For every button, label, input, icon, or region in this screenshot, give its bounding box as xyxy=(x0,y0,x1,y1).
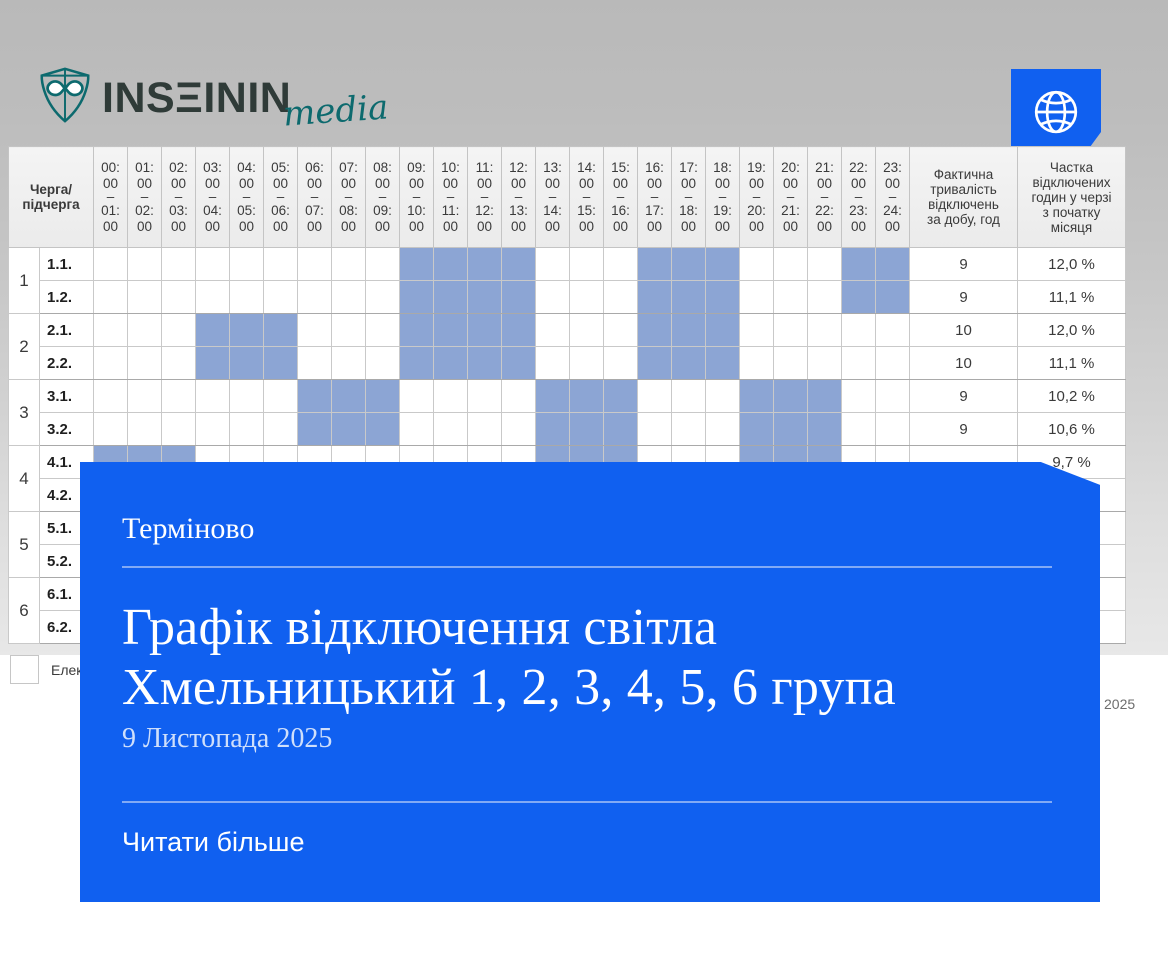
outage-cell-on xyxy=(706,248,740,281)
outage-cell-off xyxy=(774,248,808,281)
hour-header-16: 16: 00 – 17: 00 xyxy=(638,147,672,248)
outage-cell-on xyxy=(672,281,706,314)
hour-header-6: 06: 00 – 07: 00 xyxy=(298,147,332,248)
duration-value: 9 xyxy=(910,380,1018,413)
outage-cell-on xyxy=(672,248,706,281)
card-headline-line2: Хмельницький 1, 2, 3, 4, 5, 6 група xyxy=(122,658,1048,718)
outage-cell-off xyxy=(740,314,774,347)
table-row: 33.1.910,2 % xyxy=(9,380,1126,413)
outage-cell-off xyxy=(332,248,366,281)
footnote-year: 2025 xyxy=(1104,696,1135,712)
outage-cell-off xyxy=(196,281,230,314)
outage-cell-off xyxy=(808,347,842,380)
outage-cell-off xyxy=(570,281,604,314)
subgroup-label: 3.1. xyxy=(40,380,94,413)
hour-header-7: 07: 00 – 08: 00 xyxy=(332,147,366,248)
subgroup-label: 1.2. xyxy=(40,281,94,314)
outage-cell-off xyxy=(128,380,162,413)
share-value: 12,0 % xyxy=(1018,248,1126,281)
outage-cell-on xyxy=(638,248,672,281)
outage-cell-off xyxy=(604,314,638,347)
card-headline: Графік відключення світла Хмельницький 1… xyxy=(122,598,1048,718)
outage-cell-on xyxy=(400,248,434,281)
outage-cell-off xyxy=(230,248,264,281)
header-row: Черга/ підчерга 00: 00 – 01: 00 01: 00 –… xyxy=(9,147,1126,248)
card-date: 9 Листопада 2025 xyxy=(122,724,1048,755)
outage-cell-on xyxy=(400,314,434,347)
outage-cell-off xyxy=(366,281,400,314)
hour-to-h: 01: xyxy=(94,203,127,219)
outage-cell-on xyxy=(366,380,400,413)
outage-cell-off xyxy=(672,413,706,446)
outage-cell-off xyxy=(808,314,842,347)
outage-cell-off xyxy=(570,347,604,380)
outage-cell-on xyxy=(842,281,876,314)
outage-cell-on xyxy=(434,281,468,314)
outage-cell-off xyxy=(468,380,502,413)
outage-cell-off xyxy=(264,248,298,281)
hour-header-5: 05: 00 – 06: 00 xyxy=(264,147,298,248)
card-divider-top xyxy=(122,566,1052,568)
outage-cell-off xyxy=(332,347,366,380)
card-kicker: Терміново xyxy=(122,514,1048,544)
outage-cell-off xyxy=(434,380,468,413)
outage-cell-off xyxy=(128,314,162,347)
outage-cell-off xyxy=(774,314,808,347)
hour-header-20: 20: 00 – 21: 00 xyxy=(774,147,808,248)
outage-cell-off xyxy=(604,248,638,281)
outage-cell-on xyxy=(808,380,842,413)
outage-cell-on xyxy=(672,347,706,380)
subgroup-label: 1.1. xyxy=(40,248,94,281)
hour-header-14: 14: 00 – 15: 00 xyxy=(570,147,604,248)
subgroup-label: 2.2. xyxy=(40,347,94,380)
outage-cell-off xyxy=(842,314,876,347)
outage-cell-off xyxy=(94,281,128,314)
table-row: 3.2.910,6 % xyxy=(9,413,1126,446)
share-value: 12,0 % xyxy=(1018,314,1126,347)
outage-cell-on xyxy=(264,314,298,347)
outage-cell-on xyxy=(230,314,264,347)
hour-header-23: 23: 00 – 24: 00 xyxy=(876,147,910,248)
group-number: 1 xyxy=(9,248,40,314)
corner-header-line2: підчерга xyxy=(22,197,79,212)
outage-cell-on xyxy=(502,347,536,380)
outage-cell-off xyxy=(128,281,162,314)
outage-cell-off xyxy=(332,281,366,314)
duration-value: 9 xyxy=(910,413,1018,446)
outage-cell-off xyxy=(230,281,264,314)
share-value: 11,1 % xyxy=(1018,281,1126,314)
hour-header-3: 03: 00 – 04: 00 xyxy=(196,147,230,248)
outage-cell-off xyxy=(570,314,604,347)
outage-cell-off xyxy=(774,281,808,314)
outage-cell-on xyxy=(332,380,366,413)
outage-cell-on xyxy=(502,248,536,281)
outage-cell-off xyxy=(740,347,774,380)
outage-cell-on xyxy=(638,281,672,314)
outage-cell-off xyxy=(842,347,876,380)
corner-header: Черга/ підчерга xyxy=(9,147,94,248)
group-number: 4 xyxy=(9,446,40,512)
hour-header-22: 22: 00 – 23: 00 xyxy=(842,147,876,248)
outage-cell-off xyxy=(502,413,536,446)
outage-cell-on xyxy=(842,248,876,281)
outage-cell-off xyxy=(264,281,298,314)
outage-cell-on xyxy=(672,314,706,347)
outage-cell-off xyxy=(162,380,196,413)
outage-cell-on xyxy=(468,314,502,347)
outage-cell-off xyxy=(94,347,128,380)
outage-cell-off xyxy=(808,281,842,314)
outage-cell-on xyxy=(876,281,910,314)
outage-cell-on xyxy=(434,347,468,380)
outage-cell-off xyxy=(842,380,876,413)
outage-cell-off xyxy=(230,380,264,413)
hour-header-8: 08: 00 – 09: 00 xyxy=(366,147,400,248)
hour-header-0: 00: 00 – 01: 00 xyxy=(94,147,128,248)
subgroup-label: 2.1. xyxy=(40,314,94,347)
outage-cell-on xyxy=(536,380,570,413)
outage-cell-on xyxy=(264,347,298,380)
share-value: 10,2 % xyxy=(1018,380,1126,413)
outage-cell-on xyxy=(774,413,808,446)
outage-cell-off xyxy=(94,413,128,446)
hour-header-13: 13: 00 – 14: 00 xyxy=(536,147,570,248)
outage-cell-off xyxy=(434,413,468,446)
outage-cell-off xyxy=(876,380,910,413)
outage-cell-off xyxy=(264,380,298,413)
outage-cell-on xyxy=(502,281,536,314)
group-number: 5 xyxy=(9,512,40,578)
outage-cell-off xyxy=(128,413,162,446)
outage-cell-on xyxy=(706,314,740,347)
outage-cell-off xyxy=(570,248,604,281)
share-value: 11,1 % xyxy=(1018,347,1126,380)
outage-cell-on xyxy=(400,347,434,380)
outage-cell-on xyxy=(570,380,604,413)
outage-cell-on xyxy=(774,380,808,413)
urgent-news-card[interactable]: Терміново Графік відключення світла Хмел… xyxy=(80,462,1100,902)
share-header: Частка відключених годин у черзі з почат… xyxy=(1018,147,1126,248)
duration-value: 10 xyxy=(910,314,1018,347)
read-more-link[interactable]: Читати більше xyxy=(122,829,1048,856)
screenshot-canvas: INSΞININ media Черга/ підчерга 00: xyxy=(0,0,1168,970)
outage-cell-on xyxy=(434,314,468,347)
group-number: 6 xyxy=(9,578,40,644)
legend-checkbox[interactable] xyxy=(10,655,39,684)
hour-header-21: 21: 00 – 22: 00 xyxy=(808,147,842,248)
outage-cell-on xyxy=(876,248,910,281)
outage-cell-on xyxy=(706,281,740,314)
duration-header: Фактична тривалість відключень за добу, … xyxy=(910,147,1018,248)
hour-to-m: 00 xyxy=(94,219,127,235)
outage-cell-off xyxy=(162,347,196,380)
outage-cell-on xyxy=(536,413,570,446)
outage-cell-off xyxy=(94,248,128,281)
outage-cell-on xyxy=(468,281,502,314)
hour-header-17: 17: 00 – 18: 00 xyxy=(672,147,706,248)
table-row: 1.2.911,1 % xyxy=(9,281,1126,314)
hour-header-4: 04: 00 – 05: 00 xyxy=(230,147,264,248)
outage-cell-off xyxy=(196,248,230,281)
brand-logo: INSΞININ media xyxy=(34,56,389,126)
hour-header-9: 09: 00 – 10: 00 xyxy=(400,147,434,248)
outage-cell-off xyxy=(740,281,774,314)
outage-cell-off xyxy=(196,413,230,446)
hour-header-2: 02: 00 – 03: 00 xyxy=(162,147,196,248)
outage-cell-off xyxy=(536,248,570,281)
outage-cell-off xyxy=(400,380,434,413)
corner-header-line1: Черга/ xyxy=(30,182,72,197)
outage-cell-off xyxy=(604,281,638,314)
card-divider-bottom xyxy=(122,801,1052,803)
outage-cell-off xyxy=(94,314,128,347)
outage-cell-off xyxy=(162,248,196,281)
outage-cell-on xyxy=(808,413,842,446)
outage-cell-on xyxy=(332,413,366,446)
outage-cell-off xyxy=(162,314,196,347)
outage-cell-off xyxy=(876,413,910,446)
outage-cell-on xyxy=(196,314,230,347)
hour-header-12: 12: 00 – 13: 00 xyxy=(502,147,536,248)
outage-cell-off xyxy=(842,413,876,446)
outage-cell-on xyxy=(400,281,434,314)
outage-cell-off xyxy=(366,347,400,380)
outage-cell-off xyxy=(468,413,502,446)
brand-subtitle: media xyxy=(282,90,389,131)
hour-header-15: 15: 00 – 16: 00 xyxy=(604,147,638,248)
outage-cell-on xyxy=(740,413,774,446)
group-number: 2 xyxy=(9,314,40,380)
outage-cell-off xyxy=(400,413,434,446)
outage-cell-off xyxy=(536,281,570,314)
outage-cell-off xyxy=(128,347,162,380)
outage-cell-off xyxy=(298,347,332,380)
outage-cell-off xyxy=(706,380,740,413)
outage-cell-off xyxy=(502,380,536,413)
outage-cell-on xyxy=(604,413,638,446)
outage-cell-off xyxy=(230,413,264,446)
outage-cell-off xyxy=(332,314,366,347)
outage-cell-off xyxy=(638,380,672,413)
outage-cell-on xyxy=(604,380,638,413)
outage-cell-off xyxy=(264,413,298,446)
group-number: 3 xyxy=(9,380,40,446)
outage-cell-on xyxy=(740,380,774,413)
outage-cell-off xyxy=(128,248,162,281)
outage-cell-off xyxy=(672,380,706,413)
duration-value: 10 xyxy=(910,347,1018,380)
shield-infinity-icon xyxy=(34,64,96,126)
globe-icon xyxy=(1031,87,1081,142)
outage-cell-off xyxy=(162,413,196,446)
outage-cell-on xyxy=(298,380,332,413)
outage-cell-off xyxy=(94,380,128,413)
outage-cell-on xyxy=(638,347,672,380)
outage-cell-off xyxy=(774,347,808,380)
outage-cell-on xyxy=(298,413,332,446)
outage-cell-off xyxy=(536,347,570,380)
subgroup-label: 3.2. xyxy=(40,413,94,446)
outage-cell-on xyxy=(706,347,740,380)
outage-cell-on xyxy=(434,248,468,281)
outage-cell-off xyxy=(740,248,774,281)
table-row: 11.1.912,0 % xyxy=(9,248,1126,281)
brand-name: INSΞININ xyxy=(102,77,291,120)
outage-cell-off xyxy=(196,380,230,413)
outage-cell-off xyxy=(638,413,672,446)
outage-cell-on xyxy=(230,347,264,380)
hour-header-1: 01: 00 – 02: 00 xyxy=(128,147,162,248)
outage-cell-off xyxy=(298,248,332,281)
duration-value: 9 xyxy=(910,248,1018,281)
hour-from-h: 00: xyxy=(94,160,127,176)
outage-cell-on xyxy=(638,314,672,347)
outage-cell-on xyxy=(366,413,400,446)
outage-cell-off xyxy=(604,347,638,380)
outage-cell-on xyxy=(468,347,502,380)
duration-value: 9 xyxy=(910,281,1018,314)
table-row: 22.1.1012,0 % xyxy=(9,314,1126,347)
outage-cell-off xyxy=(876,347,910,380)
share-value: 10,6 % xyxy=(1018,413,1126,446)
card-headline-line1: Графік відключення світла xyxy=(122,599,717,656)
hour-dash: – xyxy=(94,191,127,203)
outage-cell-off xyxy=(876,314,910,347)
outage-cell-off xyxy=(298,314,332,347)
outage-cell-off xyxy=(298,281,332,314)
hour-header-10: 10: 00 – 11: 00 xyxy=(434,147,468,248)
hour-header-19: 19: 00 – 20: 00 xyxy=(740,147,774,248)
hour-header-11: 11: 00 – 12: 00 xyxy=(468,147,502,248)
table-row: 2.2.1011,1 % xyxy=(9,347,1126,380)
outage-cell-off xyxy=(706,413,740,446)
outage-cell-on xyxy=(468,248,502,281)
outage-cell-off xyxy=(162,281,196,314)
outage-cell-off xyxy=(366,314,400,347)
outage-cell-off xyxy=(536,314,570,347)
outage-cell-on xyxy=(196,347,230,380)
outage-cell-on xyxy=(502,314,536,347)
outage-cell-off xyxy=(808,248,842,281)
outage-cell-on xyxy=(570,413,604,446)
outage-cell-off xyxy=(366,248,400,281)
hour-header-18: 18: 00 – 19: 00 xyxy=(706,147,740,248)
table-head: Черга/ підчерга 00: 00 – 01: 00 01: 00 –… xyxy=(9,147,1126,248)
